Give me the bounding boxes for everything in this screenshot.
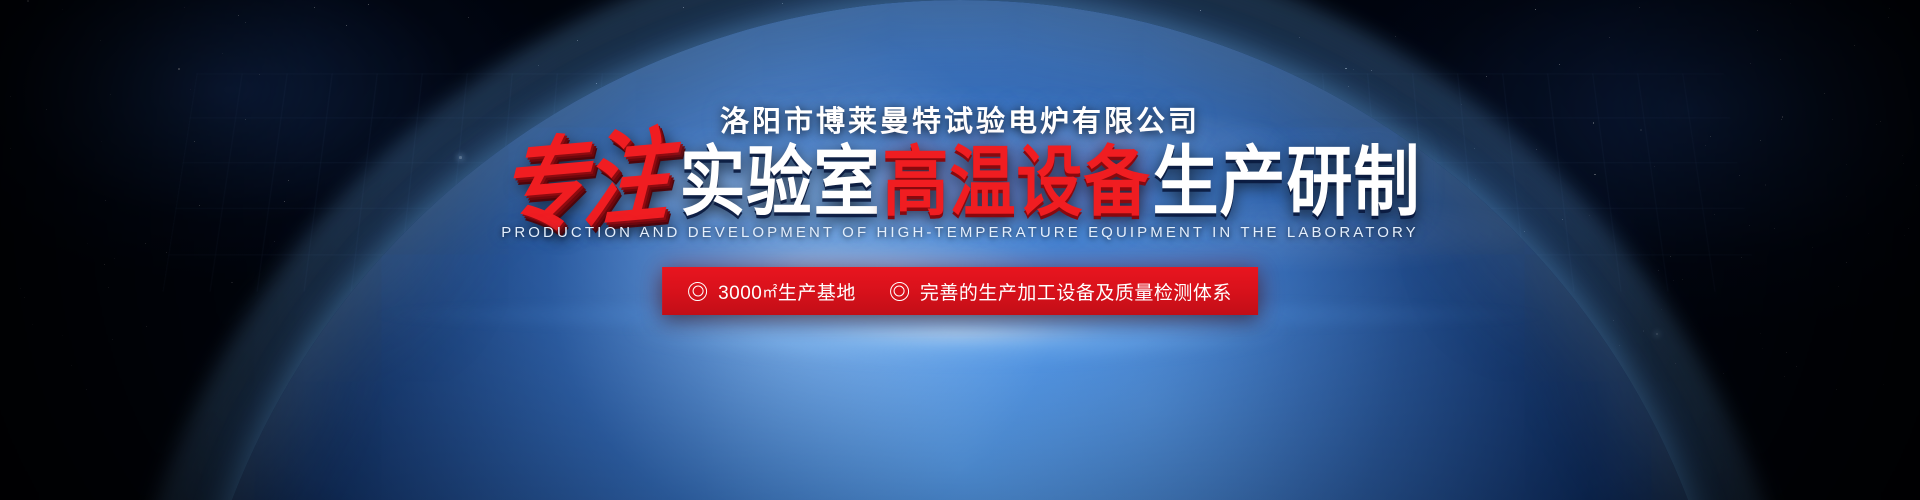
double-circle-icon [890,282,909,301]
banner-content: 洛阳市博莱曼特试验电炉有限公司 专注 实验室 高温设备 生产研制 PRODUCT… [0,0,1920,500]
headline-segment-white-1: 实验室 [680,120,881,231]
hero-banner: BOLAIMANTE 洛阳市博莱曼特试验电炉有限公司 专注 实验室 高温设备 生… [0,0,1920,500]
headline-segment-red: 高温设备 [883,120,1151,231]
subtitle-english: PRODUCTION AND DEVELOPMENT OF HIGH-TEMPE… [0,224,1920,241]
headline: 专注 实验室 高温设备 生产研制 [0,134,1920,218]
feature-item-2-label: 完善的生产加工设备及质量检测体系 [920,278,1232,305]
feature-item-1: 3000㎡生产基地 [688,278,856,305]
feature-bar: 3000㎡生产基地 完善的生产加工设备及质量检测体系 [662,267,1258,315]
headline-segment-white-2: 生产研制 [1153,120,1421,231]
feature-item-2: 完善的生产加工设备及质量检测体系 [890,278,1232,305]
double-circle-icon [688,282,707,301]
feature-item-1-label: 3000㎡生产基地 [718,278,856,305]
